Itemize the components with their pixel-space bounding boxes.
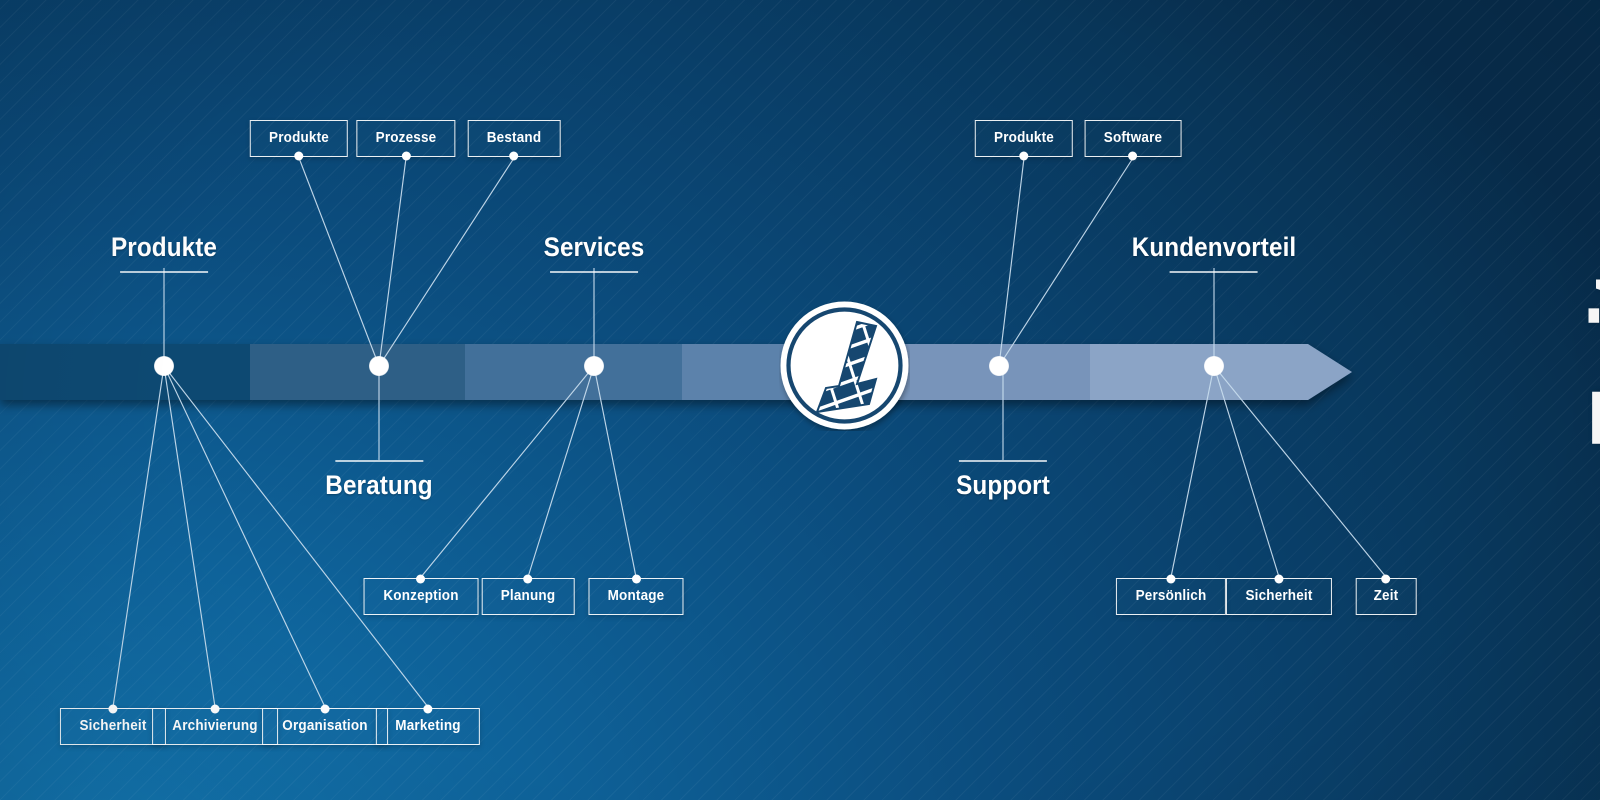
timeline-segment-1 — [0, 344, 288, 400]
timeline-node-beratung[interactable] — [370, 357, 389, 376]
phase-title: Kundenvorteil — [1132, 232, 1297, 263]
box-label: Organisation — [282, 718, 367, 734]
phase-rule — [120, 271, 208, 273]
box-label: Planung — [501, 588, 555, 604]
box-produkte-support[interactable]: Produkte — [975, 120, 1073, 157]
box-label: Sicherheit — [1245, 588, 1312, 604]
box-sicherheit-kunden[interactable]: Sicherheit — [1226, 578, 1332, 615]
box-anchor-dot — [417, 575, 426, 584]
box-organisation[interactable]: Organisation — [262, 708, 388, 745]
box-anchor-dot — [1274, 575, 1283, 584]
phase-kundenvorteil[interactable]: Kundenvorteil — [1123, 232, 1306, 273]
box-anchor-dot — [211, 705, 220, 714]
timeline-node-support[interactable] — [990, 357, 1009, 376]
box-label: Software — [1104, 130, 1162, 146]
axis-label-zeit-wrapper: Zeit — [1360, 0, 1600, 800]
wire-support-produkte — [999, 158, 1024, 366]
wire-beratung-bestand — [379, 158, 514, 366]
box-label: Marketing — [395, 718, 460, 734]
phase-title: Beratung — [325, 470, 432, 501]
phase-title: Services — [544, 232, 645, 263]
box-anchor-dot — [321, 705, 330, 714]
timeline-node-produkte[interactable] — [155, 357, 174, 376]
phase-title: Produkte — [111, 232, 217, 263]
box-software[interactable]: Software — [1085, 120, 1182, 157]
timeline-node-kundenvorteil[interactable] — [1205, 357, 1224, 376]
box-anchor-dot — [108, 705, 117, 714]
phase-services[interactable]: Services — [538, 232, 650, 273]
box-anchor-dot — [423, 705, 432, 714]
box-label: Produkte — [994, 130, 1054, 146]
box-label: Montage — [608, 588, 665, 604]
phase-rule — [335, 460, 423, 462]
box-anchor-dot — [1129, 152, 1138, 161]
box-label: Archivierung — [172, 718, 257, 734]
box-anchor-dot — [509, 152, 518, 161]
phase-rule — [1170, 271, 1258, 273]
wire-beratung-produkte — [299, 158, 379, 366]
infographic-canvas: Produkte Beratung Services Support Kunde… — [0, 0, 1600, 800]
box-label: Sicherheit — [79, 718, 146, 734]
box-sicherheit-produkte[interactable]: Sicherheit — [60, 708, 166, 745]
box-label: Persönlich — [1136, 588, 1207, 604]
box-anchor-dot — [1019, 152, 1028, 161]
box-anchor-dot — [631, 575, 640, 584]
box-bestand[interactable]: Bestand — [468, 120, 561, 157]
box-anchor-dot — [524, 575, 533, 584]
box-archivierung[interactable]: Archivierung — [152, 708, 278, 745]
axis-label-zeit: Zeit — [1582, 268, 1600, 451]
phase-produkte[interactable]: Produkte — [105, 232, 223, 273]
box-label: Prozesse — [376, 130, 437, 146]
phase-rule — [959, 460, 1047, 462]
phase-beratung[interactable]: Beratung — [319, 460, 438, 501]
phase-rule — [550, 271, 638, 273]
phase-title: Support — [956, 470, 1050, 501]
box-montage[interactable]: Montage — [588, 578, 683, 615]
box-label: Konzeption — [383, 588, 458, 604]
box-anchor-dot — [1166, 575, 1175, 584]
box-persoenlich[interactable]: Persönlich — [1116, 578, 1226, 615]
box-produkte-beratung[interactable]: Produkte — [250, 120, 348, 157]
box-planung[interactable]: Planung — [482, 578, 575, 615]
company-logo-icon — [779, 300, 910, 431]
box-label: Produkte — [269, 130, 329, 146]
box-label: Bestand — [487, 130, 542, 146]
box-anchor-dot — [294, 152, 303, 161]
timeline-node-services[interactable] — [585, 357, 604, 376]
wire-beratung-prozesse — [379, 158, 406, 366]
box-prozesse[interactable]: Prozesse — [356, 120, 455, 157]
phase-support[interactable]: Support — [951, 460, 1055, 501]
box-marketing[interactable]: Marketing — [376, 708, 480, 745]
box-konzeption[interactable]: Konzeption — [364, 578, 479, 615]
box-anchor-dot — [402, 152, 411, 161]
wire-support-software — [999, 158, 1133, 366]
